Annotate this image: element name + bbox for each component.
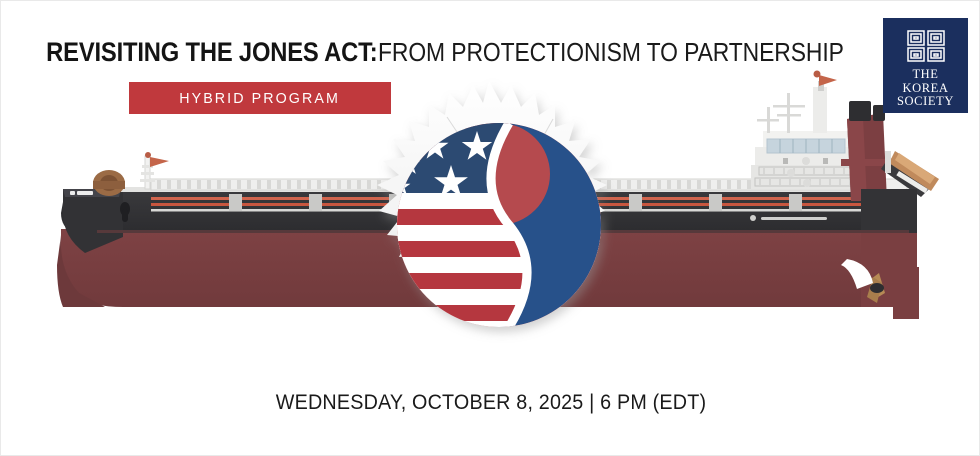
hybrid-program-badge: HYBRID PROGRAM [129, 82, 391, 114]
event-date-time: WEDNESDAY, OCTOBER 8, 2025 | 6 PM (EDT) [30, 391, 951, 415]
ship-bow-winch [93, 170, 125, 196]
poster-title: REVISITING THE JONES ACT: FROM PROTECTIO… [1, 37, 881, 68]
event-poster: REVISITING THE JONES ACT: FROM PROTECTIO… [0, 0, 980, 456]
korea-society-wordmark: THE KOREA SOCIETY [897, 68, 954, 109]
poster-title-main: REVISITING THE JONES ACT: [46, 37, 377, 68]
korea-society-logo: THE KOREA SOCIETY [883, 18, 968, 113]
logo-line-2: KOREA [897, 82, 954, 96]
torn-paper-burst-flag-emblem [339, 73, 659, 383]
ship-rudder [893, 267, 919, 319]
logo-line-3: SOCIETY [897, 95, 954, 109]
korea-society-key-pattern-icon [906, 29, 946, 63]
poster-title-sub: FROM PROTECTIONISM TO PARTNERSHIP [378, 37, 844, 68]
hybrid-program-badge-label: HYBRID PROGRAM [180, 90, 341, 107]
ship-masts [757, 93, 805, 133]
logo-line-1: THE [897, 68, 954, 82]
bridge-windows [767, 139, 845, 153]
